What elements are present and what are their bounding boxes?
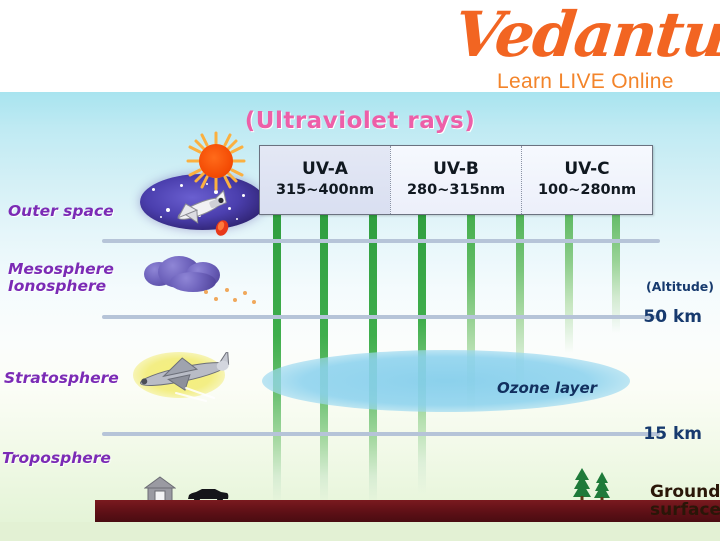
layer-label-outer-space: Outer space bbox=[8, 203, 114, 220]
ground-surface-bar bbox=[95, 500, 720, 522]
ground-fill bbox=[0, 522, 720, 541]
altitude-mark-15km: 15 km bbox=[643, 424, 702, 444]
meteor-dust-icon bbox=[225, 288, 229, 292]
layer-label-line2: Ionosphere bbox=[8, 277, 106, 295]
uv-band-name: UV-C bbox=[564, 161, 609, 179]
brand-header: Vedantu Learn LIVE Online bbox=[0, 0, 720, 92]
space-shuttle-icon bbox=[168, 186, 238, 238]
boundary-line-15km bbox=[102, 432, 660, 436]
diagram-canvas: Vedantu Learn LIVE Online bbox=[0, 0, 720, 541]
ozone-layer-label: Ozone layer bbox=[497, 379, 597, 397]
meteor-dust-icon bbox=[214, 297, 218, 301]
uv-band-range: 100~280nm bbox=[538, 181, 636, 199]
uv-beam bbox=[565, 213, 573, 353]
brand-tagline: Learn LIVE Online bbox=[497, 70, 674, 94]
altitude-unit-label: (Altitude) bbox=[646, 279, 714, 294]
altitude-mark-50km: 50 km bbox=[643, 307, 702, 327]
meteor-dust-icon bbox=[252, 300, 256, 304]
meteor-dust-icon bbox=[243, 291, 247, 295]
uv-band-name: UV-A bbox=[302, 161, 348, 179]
uv-band-uv-b[interactable]: UV-B 280~315nm bbox=[390, 146, 521, 214]
layer-label-line1: Mesosphere bbox=[8, 260, 114, 278]
diagram-title: (Ultraviolet rays) bbox=[0, 108, 720, 134]
tree-icon bbox=[572, 468, 592, 502]
boundary-line-outer-space bbox=[102, 239, 660, 243]
meteor-dust-icon bbox=[233, 298, 237, 302]
meteor-dust-icon bbox=[204, 290, 208, 294]
uv-band-uv-a[interactable]: UV-A 315~400nm bbox=[260, 146, 390, 214]
sun-disc-icon bbox=[199, 144, 233, 178]
cloud-icon bbox=[170, 272, 216, 292]
tree-icon bbox=[593, 472, 611, 502]
uv-beam bbox=[273, 213, 281, 505]
layer-label-stratosphere: Stratosphere bbox=[4, 370, 119, 387]
airplane-icon bbox=[128, 352, 240, 402]
uv-band-uv-c[interactable]: UV-C 100~280nm bbox=[521, 146, 652, 214]
uv-band-name: UV-B bbox=[433, 161, 479, 179]
uv-band-range: 280~315nm bbox=[407, 181, 505, 199]
house-icon bbox=[144, 476, 176, 502]
layer-label-mesosphere: Mesosphere Ionosphere bbox=[8, 261, 114, 296]
uv-bands-box: UV-A 315~400nm UV-B 280~315nm UV-C 100~2… bbox=[259, 145, 653, 215]
ground-surface-label: Ground surface bbox=[650, 484, 720, 520]
vedantu-logo: Vedantu bbox=[451, 0, 720, 71]
boundary-line-50km bbox=[102, 315, 660, 319]
ground-label-line2: surface bbox=[650, 500, 720, 520]
uv-band-range: 315~400nm bbox=[276, 181, 374, 199]
layer-label-troposphere: Troposphere bbox=[2, 450, 111, 467]
